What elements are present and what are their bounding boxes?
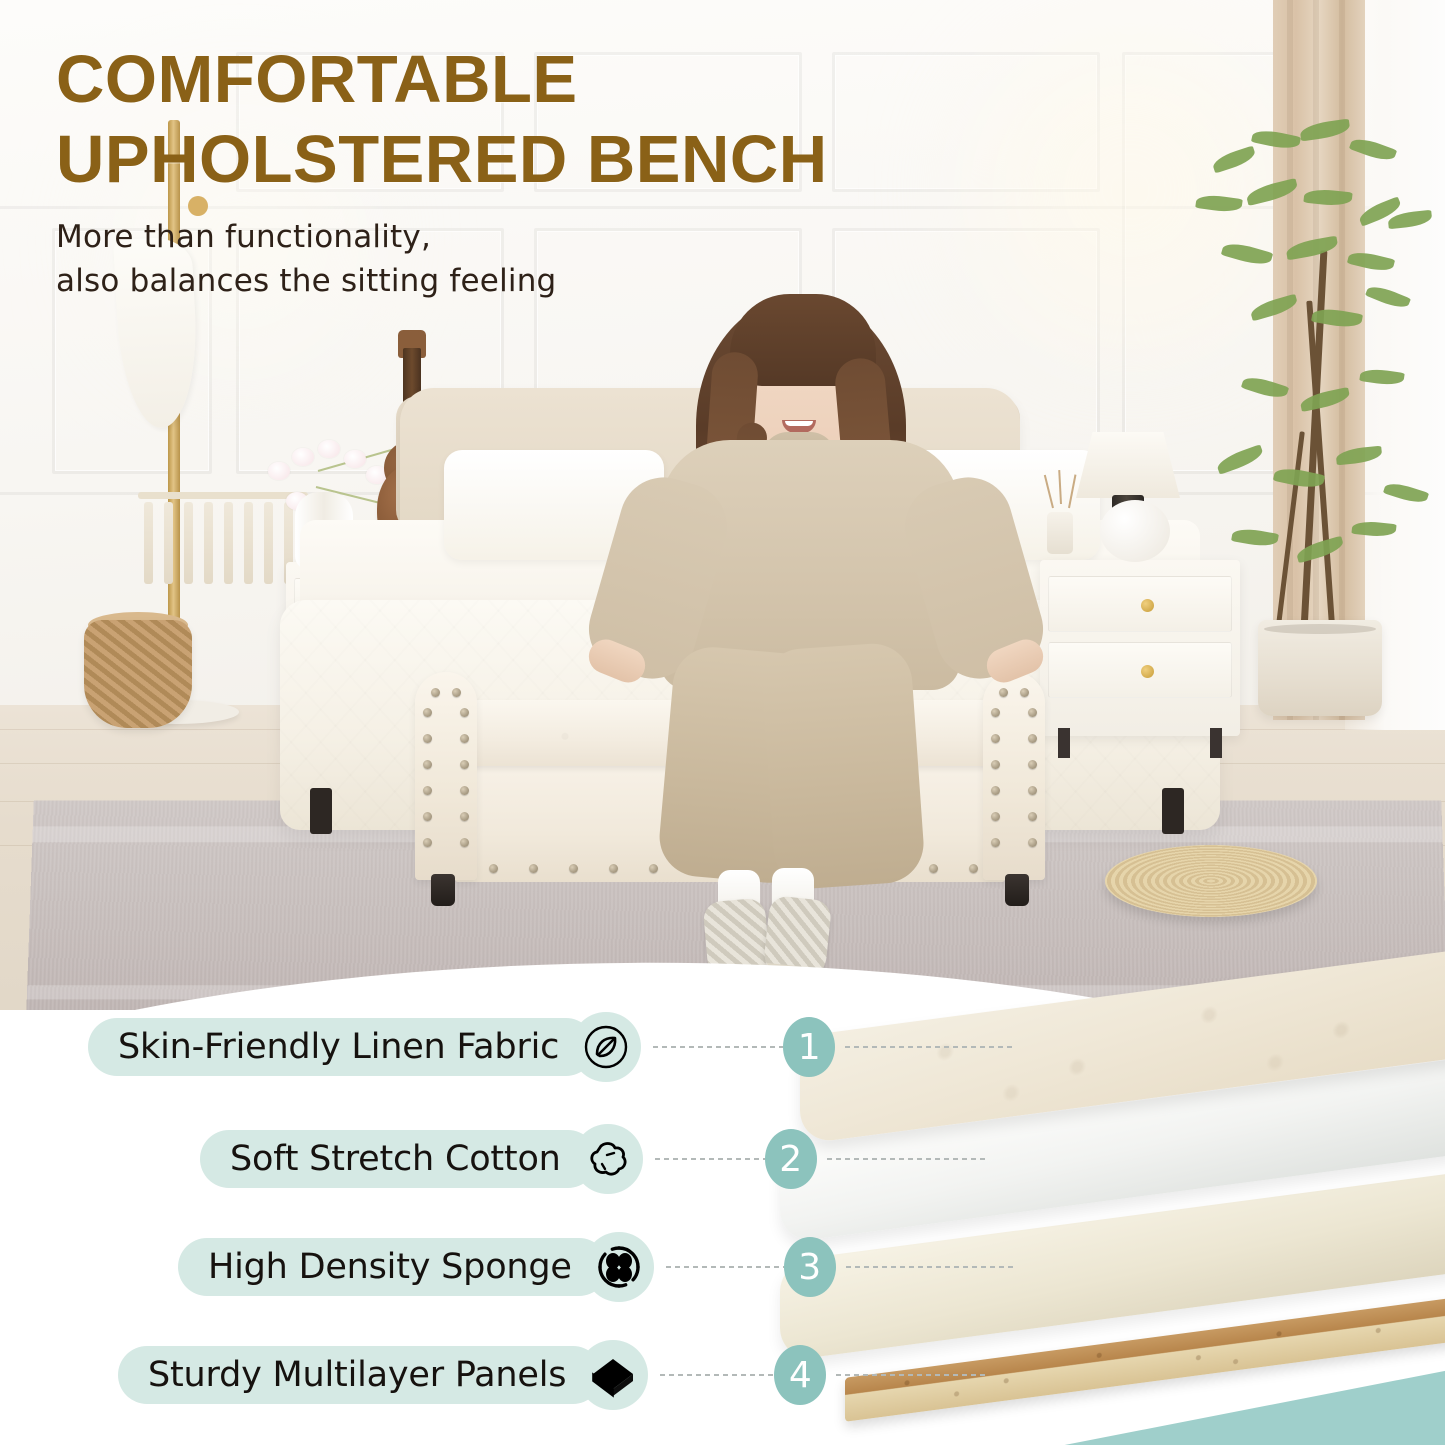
connector-dots-4b — [836, 1374, 986, 1376]
headline-block: COMFORTABLE UPHOLSTERED BENCH More than … — [56, 46, 1116, 303]
title-line-2: UPHOLSTERED BENCH — [56, 126, 1116, 193]
infographic-canvas: COMFORTABLE UPHOLSTERED BENCH More than … — [0, 0, 1445, 1445]
feature-label-pill-2[interactable]: Soft Stretch Cotton — [200, 1130, 597, 1188]
connector-dots-2b — [827, 1158, 987, 1160]
feature-label-1: Skin-Friendly Linen Fabric — [118, 1027, 559, 1067]
feature-label-pill-1[interactable]: Skin-Friendly Linen Fabric — [88, 1018, 595, 1076]
feature-label-4: Sturdy Multilayer Panels — [148, 1355, 566, 1395]
feature-label-3: High Density Sponge — [208, 1247, 572, 1287]
connector-dots-4 — [660, 1374, 774, 1376]
step-number-badge-2: 2 — [765, 1129, 817, 1189]
subtitle-line-1: More than functionality, — [56, 215, 1116, 259]
step-number-badge-1: 1 — [783, 1017, 835, 1077]
feature-row-2[interactable]: Soft Stretch Cotton 2 — [200, 1124, 987, 1194]
feature-label-pill-4[interactable]: Sturdy Multilayer Panels — [118, 1346, 602, 1404]
feature-label-2: Soft Stretch Cotton — [230, 1139, 561, 1179]
feature-label-pill-3[interactable]: High Density Sponge — [178, 1238, 608, 1296]
connector-dots-2 — [655, 1158, 765, 1160]
feature-row-4[interactable]: Sturdy Multilayer Panels 4 — [118, 1340, 986, 1410]
page-title: COMFORTABLE UPHOLSTERED BENCH — [56, 46, 1116, 193]
panel-block-icon — [578, 1340, 648, 1410]
title-line-1: COMFORTABLE — [56, 42, 578, 117]
step-number-badge-4: 4 — [774, 1345, 826, 1405]
subtitle: More than functionality, also balances t… — [56, 215, 1116, 303]
connector-dots-1 — [653, 1046, 783, 1048]
connector-dots-1b — [845, 1046, 1015, 1048]
subtitle-line-2: also balances the sitting feeling — [56, 259, 1116, 303]
leaf-icon — [571, 1012, 641, 1082]
feature-row-1[interactable]: Skin-Friendly Linen Fabric 1 — [88, 1012, 1015, 1082]
step-number-badge-3: 3 — [784, 1237, 836, 1297]
sponge-icon — [584, 1232, 654, 1302]
connector-dots-3b — [846, 1266, 1016, 1268]
connector-dots-3 — [666, 1266, 784, 1268]
cotton-boll-icon — [573, 1124, 643, 1194]
feature-row-3[interactable]: High Density Sponge 3 — [178, 1232, 1016, 1302]
